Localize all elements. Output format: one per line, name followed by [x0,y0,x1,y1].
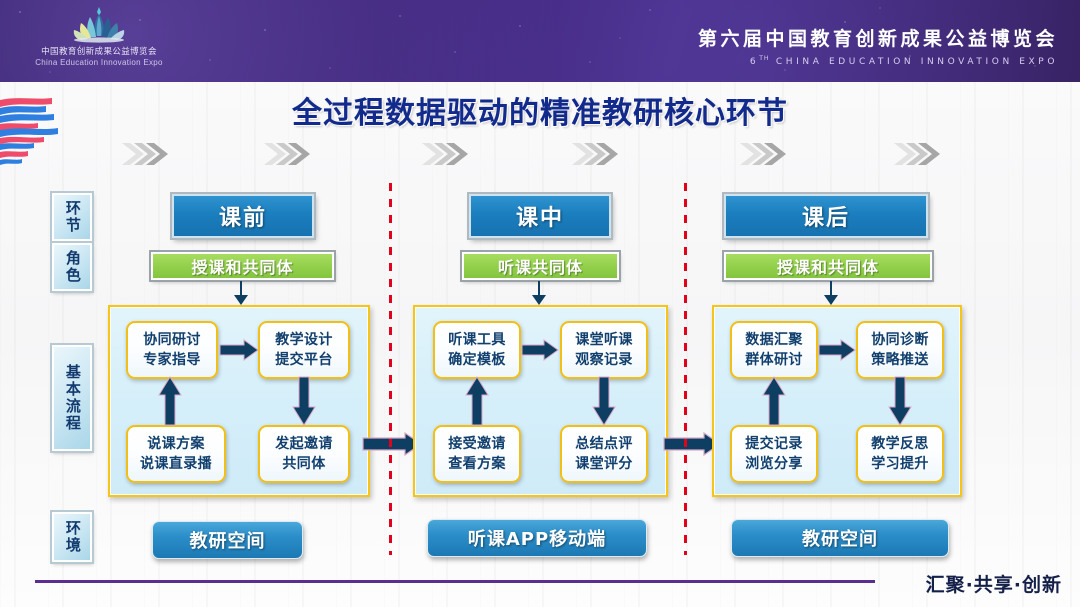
divider-pre-in [389,183,392,555]
node-c3n4[interactable]: 教学反思 学习提升 [856,425,944,483]
role-badge-pre-class-label: 授课和共同体 [191,254,293,278]
phase-header-post-class[interactable]: 课后 [724,194,928,238]
node-c1n1[interactable]: 协同研讨 专家指导 [126,321,218,379]
row-label-process: 基本流程 [52,345,92,451]
node-c1n1-line2: 专家指导 [143,350,201,370]
environment-box-post-class[interactable]: 教研空间 [731,519,949,557]
edge-arrow-c1n3-c1n1 [158,377,182,427]
node-c3n2-line1: 协同诊断 [871,330,929,350]
chevron-group-4 [570,139,630,169]
edge-arrow-c2n3-c2n1 [465,377,489,427]
chevron-right-icon [262,139,322,169]
node-c2n1-line2: 确定模板 [448,350,506,370]
node-c2n3[interactable]: 接受邀请 查看方案 [433,425,521,483]
node-c2n2-line1: 课堂听课 [575,330,633,350]
node-c3n1-line1: 数据汇聚 [745,330,803,350]
node-c3n3-line1: 提交记录 [745,434,803,454]
node-c1n2[interactable]: 教学设计 提交平台 [258,321,350,379]
phase-header-pre-class[interactable]: 课前 [172,194,314,238]
row-label-environment-text: 环境 [63,520,81,554]
node-c1n3[interactable]: 说课方案 说课直录播 [126,425,226,483]
environment-box-pre-class[interactable]: 教研空间 [152,521,303,559]
process-container-pre-class: 协同研讨 专家指导 教学设计 提交平台 说课方案 说课直录播 发起邀请 共同体 [108,305,370,497]
node-c3n1[interactable]: 数据汇聚 群体研讨 [730,321,818,379]
environment-box-pre-class-label: 教研空间 [190,527,266,553]
row-label-stage: 环节 [52,193,92,241]
node-c3n3-line2: 浏览分享 [745,454,803,474]
environment-box-in-class-label: 听课APP移动端 [468,525,606,551]
node-c3n4-line1: 教学反思 [871,434,929,454]
phase-header-in-class-label: 课中 [516,200,564,232]
chevron-right-icon [892,139,952,169]
row-label-stage-text: 环节 [63,200,81,234]
row-label-environment: 环境 [52,512,92,562]
expo-title-block: 第六届中国教育创新成果公益博览会 6TH CHINA EDUCATION INN… [698,24,1058,67]
logo-english-name: China Education Innovation Expo [35,58,163,67]
chevron-group-3 [420,139,480,169]
node-c1n2-line1: 教学设计 [275,330,333,350]
node-c1n3-line2: 说课直录播 [140,454,212,474]
footer-rule [35,580,875,583]
edge-arrow-c1n2-c1n4 [292,377,316,427]
role-badge-post-class[interactable]: 授课和共同体 [724,252,932,280]
process-container-in-class: 听课工具 确定模板 课堂听课 观察记录 接受邀请 查看方案 总结点评 课堂评分 [413,305,668,497]
edge-arrow-c3n1-c3n2 [819,339,857,361]
node-c2n3-line1: 接受邀请 [448,434,506,454]
edge-arrow-c1n1-c1n2 [220,339,260,361]
page-title: 全过程数据驱动的精准教研核心环节 [0,88,1080,132]
row-label-role: 角色 [52,243,92,291]
down-arrow-icon-col2 [528,281,552,307]
role-badge-post-class-label: 授课和共同体 [777,254,879,278]
chevron-right-icon [570,139,630,169]
node-c2n4-line1: 总结点评 [575,434,633,454]
role-badge-in-class-label: 听课共同体 [498,254,583,278]
edge-arrow-c3n2-c3n4 [888,377,912,427]
expo-logo: 中国教育创新成果公益博览会 China Education Innovation… [14,4,184,80]
node-c1n3-line1: 说课方案 [147,434,205,454]
lotus-logo-icon [68,4,130,44]
node-c2n3-line2: 查看方案 [448,454,506,474]
node-c1n2-line2: 提交平台 [275,350,333,370]
node-c2n2-line2: 观察记录 [575,350,633,370]
chevron-group-1 [120,139,180,169]
node-c2n4-line2: 课堂评分 [575,454,633,474]
row-label-role-text: 角色 [63,250,81,284]
environment-box-in-class[interactable]: 听课APP移动端 [427,519,647,557]
node-c3n1-line2: 群体研讨 [745,350,803,370]
phase-header-pre-class-label: 课前 [219,200,267,232]
node-c2n2[interactable]: 课堂听课 观察记录 [560,321,648,379]
expo-title-english: 6TH CHINA EDUCATION INNOVATION EXPO [698,55,1058,67]
chevron-right-icon [738,139,798,169]
chevron-group-5 [738,139,798,169]
node-c3n2-line2: 策略推送 [871,350,929,370]
slide-canvas: 中国教育创新成果公益博览会 China Education Innovation… [0,0,1080,607]
chevron-group-2 [262,139,322,169]
node-c2n1[interactable]: 听课工具 确定模板 [433,321,521,379]
node-c1n4-line2: 共同体 [282,454,325,474]
divider-in-post [684,183,687,555]
node-c2n4[interactable]: 总结点评 课堂评分 [560,425,648,483]
edge-arrow-c3n3-c3n1 [762,377,786,427]
down-arrow-icon-col3 [820,281,844,307]
phase-header-in-class[interactable]: 课中 [469,194,611,238]
role-badge-in-class[interactable]: 听课共同体 [462,252,619,280]
header-band: 中国教育创新成果公益博览会 China Education Innovation… [0,0,1080,82]
edge-arrow-c2n1-c2n2 [522,339,560,361]
node-c1n4-line1: 发起邀请 [275,434,333,454]
down-arrow-icon-col1 [230,281,254,307]
node-c2n1-line1: 听课工具 [448,330,506,350]
expo-title-chinese: 第六届中国教育创新成果公益博览会 [698,24,1058,51]
role-badge-pre-class[interactable]: 授课和共同体 [151,252,334,280]
edge-arrow-c2n2-c2n4 [592,377,616,427]
footer-slogan: 汇聚·共享·创新 [926,570,1062,597]
progress-chevrons [0,139,1080,169]
chevron-right-icon [120,139,180,169]
process-container-post-class: 数据汇聚 群体研讨 协同诊断 策略推送 提交记录 浏览分享 教学反思 学习提升 [712,305,962,497]
chevron-right-icon [420,139,480,169]
logo-chinese-name: 中国教育创新成果公益博览会 [41,45,157,57]
node-c1n1-line1: 协同研讨 [143,330,201,350]
node-c3n2[interactable]: 协同诊断 策略推送 [856,321,944,379]
chevron-group-6 [892,139,952,169]
phase-header-post-class-label: 课后 [802,200,850,232]
node-c3n4-line2: 学习提升 [871,454,929,474]
node-c1n4[interactable]: 发起邀请 共同体 [258,425,350,483]
row-label-process-text: 基本流程 [63,364,81,432]
environment-box-post-class-label: 教研空间 [802,525,878,551]
node-c3n3[interactable]: 提交记录 浏览分享 [730,425,818,483]
